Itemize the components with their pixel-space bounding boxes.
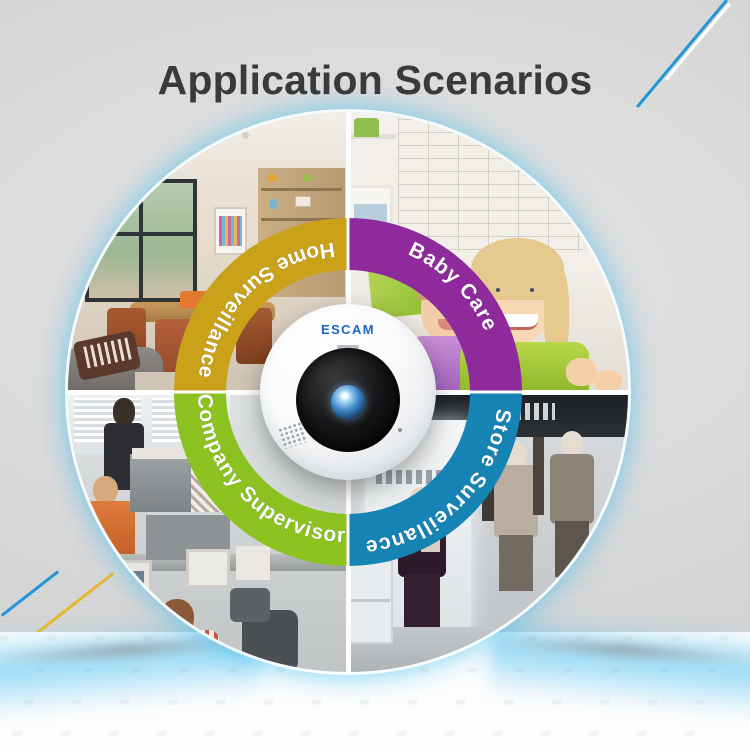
camera-brand-label: ESCAM [260, 322, 436, 337]
wheel-collage: Home Surveillance Baby Care Company Supe… [68, 112, 628, 672]
application-scenarios-wheel: Home Surveillance Baby Care Company Supe… [68, 112, 628, 672]
poster-canvas: Application Scenarios [0, 0, 750, 750]
camera-fisheye-lens [331, 385, 365, 419]
camera-microphone-pinhole [398, 428, 402, 432]
camera-product[interactable]: ESCAM [260, 304, 436, 480]
page-title: Application Scenarios [0, 57, 750, 104]
camera-dome [296, 348, 400, 452]
accent-line-bottom-left-blue [1, 570, 60, 617]
